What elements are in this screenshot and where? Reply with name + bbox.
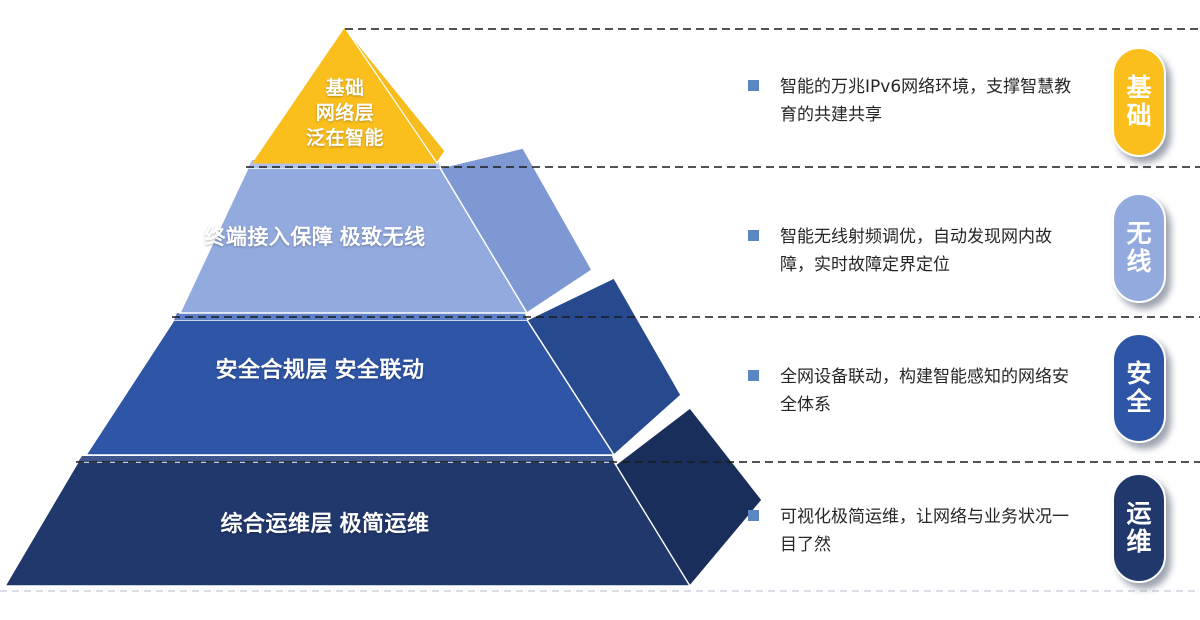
description-row-wireless-access: 智能无线射频调优，自动发现网内故障，实时故障定界定位 bbox=[748, 224, 1078, 279]
layer-security-front-face bbox=[86, 320, 614, 455]
pill-char-1: 无 bbox=[1126, 220, 1151, 248]
description-text-security-compliance: 全网设备联动，构建智能感知的网络安全体系 bbox=[780, 364, 1078, 419]
pill-char-1: 安 bbox=[1126, 360, 1151, 388]
description-text-integrated-oam: 可视化极简运维，让网络与业务状况一目了然 bbox=[780, 504, 1078, 559]
pill-badge-security-compliance[interactable]: 安 全 bbox=[1112, 333, 1166, 443]
pill-char-2: 础 bbox=[1126, 102, 1151, 130]
pyramid-layer-base-network[interactable] bbox=[253, 28, 445, 163]
bullet-square-icon bbox=[748, 370, 759, 381]
pill-badge-wireless-access[interactable]: 无 线 bbox=[1112, 193, 1166, 303]
bullet-square-icon bbox=[748, 80, 759, 91]
layer-oam-top-strip bbox=[78, 456, 614, 462]
description-row-integrated-oam: 可视化极简运维，让网络与业务状况一目了然 bbox=[748, 504, 1078, 559]
pyramid-layer-wireless-access[interactable] bbox=[180, 148, 592, 313]
description-row-security-compliance: 全网设备联动，构建智能感知的网络安全体系 bbox=[748, 364, 1078, 419]
bullet-square-icon bbox=[748, 230, 759, 241]
pill-badge-integrated-oam[interactable]: 运 维 bbox=[1112, 473, 1166, 583]
diagram-canvas: 基础 网络层 泛在智能 终端接入保障 极致无线 安全合规层 安全联动 综合运维层… bbox=[0, 0, 1200, 620]
pill-char-2: 全 bbox=[1126, 388, 1151, 416]
bullet-square-icon bbox=[748, 510, 759, 521]
pill-char-2: 维 bbox=[1126, 528, 1151, 556]
description-text-base-network: 智能的万兆IPv6网络环境，支撑智慧教育的共建共享 bbox=[780, 74, 1078, 129]
description-row-base-network: 智能的万兆IPv6网络环境，支撑智慧教育的共建共享 bbox=[748, 74, 1078, 129]
layer-oam-front-face bbox=[5, 462, 690, 586]
description-text-wireless-access: 智能无线射频调优，自动发现网内故障，实时故障定界定位 bbox=[780, 224, 1078, 279]
pill-char-2: 线 bbox=[1126, 248, 1151, 276]
pill-char-1: 运 bbox=[1126, 500, 1151, 528]
pill-char-1: 基 bbox=[1126, 74, 1151, 102]
pill-badge-base-network[interactable]: 基 础 bbox=[1112, 47, 1166, 157]
